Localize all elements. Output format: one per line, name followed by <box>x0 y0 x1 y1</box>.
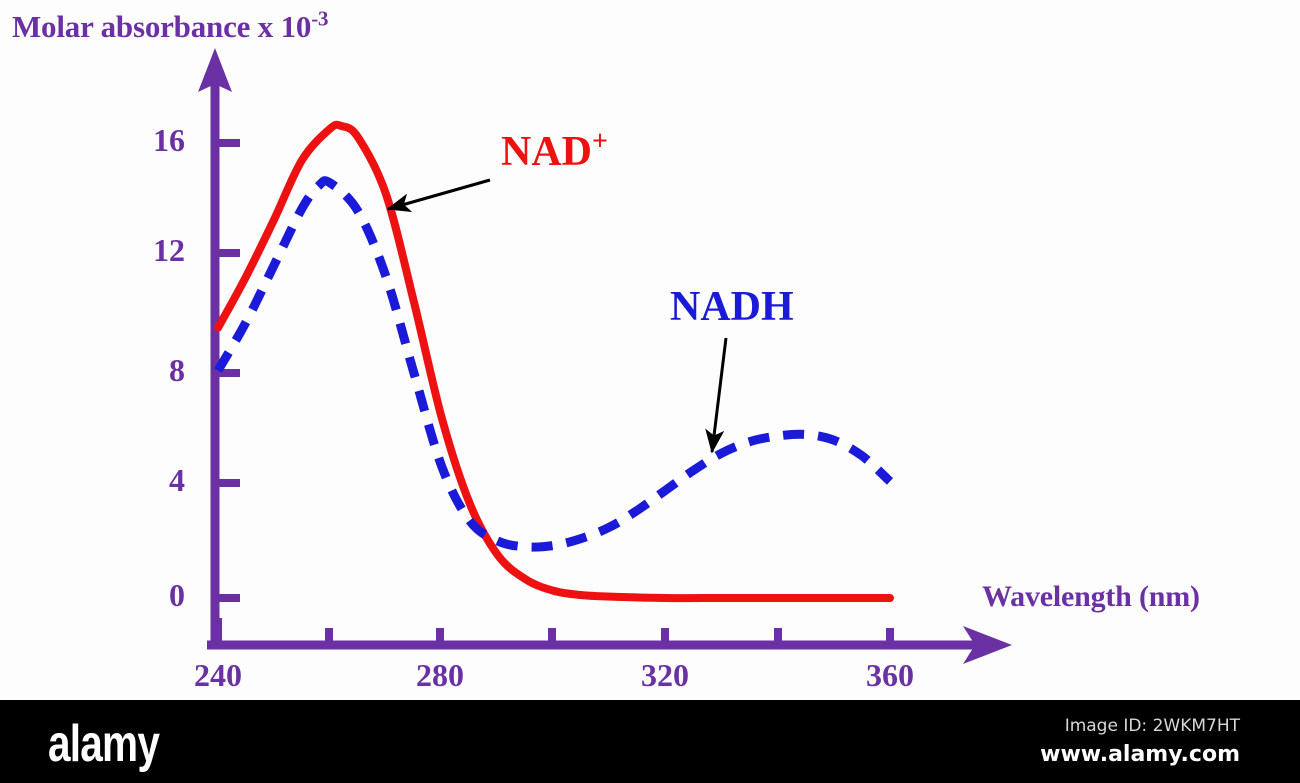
y-axis-title-text: Molar absorbance x 10 <box>12 9 311 44</box>
y-axis-title: Molar absorbance x 10-3 <box>12 9 328 45</box>
x-tick-label-280: 280 <box>395 657 485 694</box>
image-id-text: Image ID: 2WKM7HT <box>1065 716 1240 736</box>
nadh-pointer <box>712 338 726 452</box>
series-label-nadh: NADH <box>670 283 794 331</box>
y-axis <box>198 48 232 645</box>
series-label-nad-plus: NAD+ <box>501 128 608 176</box>
x-tick-label-320: 320 <box>620 657 710 694</box>
x-tick-label-240: 240 <box>173 657 263 694</box>
series-label-nad-plus-text: NAD <box>501 129 592 175</box>
data-series-layer <box>218 125 890 598</box>
series-line-nad-plus <box>218 125 890 598</box>
nad-plus-pointer <box>388 180 490 209</box>
y-tick-label-16: 16 <box>125 122 185 159</box>
series-line-nadh <box>218 181 890 547</box>
x-axis-title: Wavelength (nm) <box>982 580 1200 614</box>
x-tick-label-360: 360 <box>845 657 935 694</box>
alamy-logo: alamy <box>48 714 159 774</box>
y-axis-title-exponent: -3 <box>311 7 328 31</box>
y-tick-label-8: 8 <box>125 352 185 389</box>
chart-canvas: Molar absorbance x 10-3 Wavelength (nm) … <box>0 0 1300 783</box>
y-tick-label-0: 0 <box>125 577 185 614</box>
y-tick-label-12: 12 <box>125 232 185 269</box>
alamy-url-text: www.alamy.com <box>1040 742 1240 767</box>
y-tick-label-4: 4 <box>125 462 185 499</box>
series-label-nad-plus-superscript: + <box>592 126 608 157</box>
